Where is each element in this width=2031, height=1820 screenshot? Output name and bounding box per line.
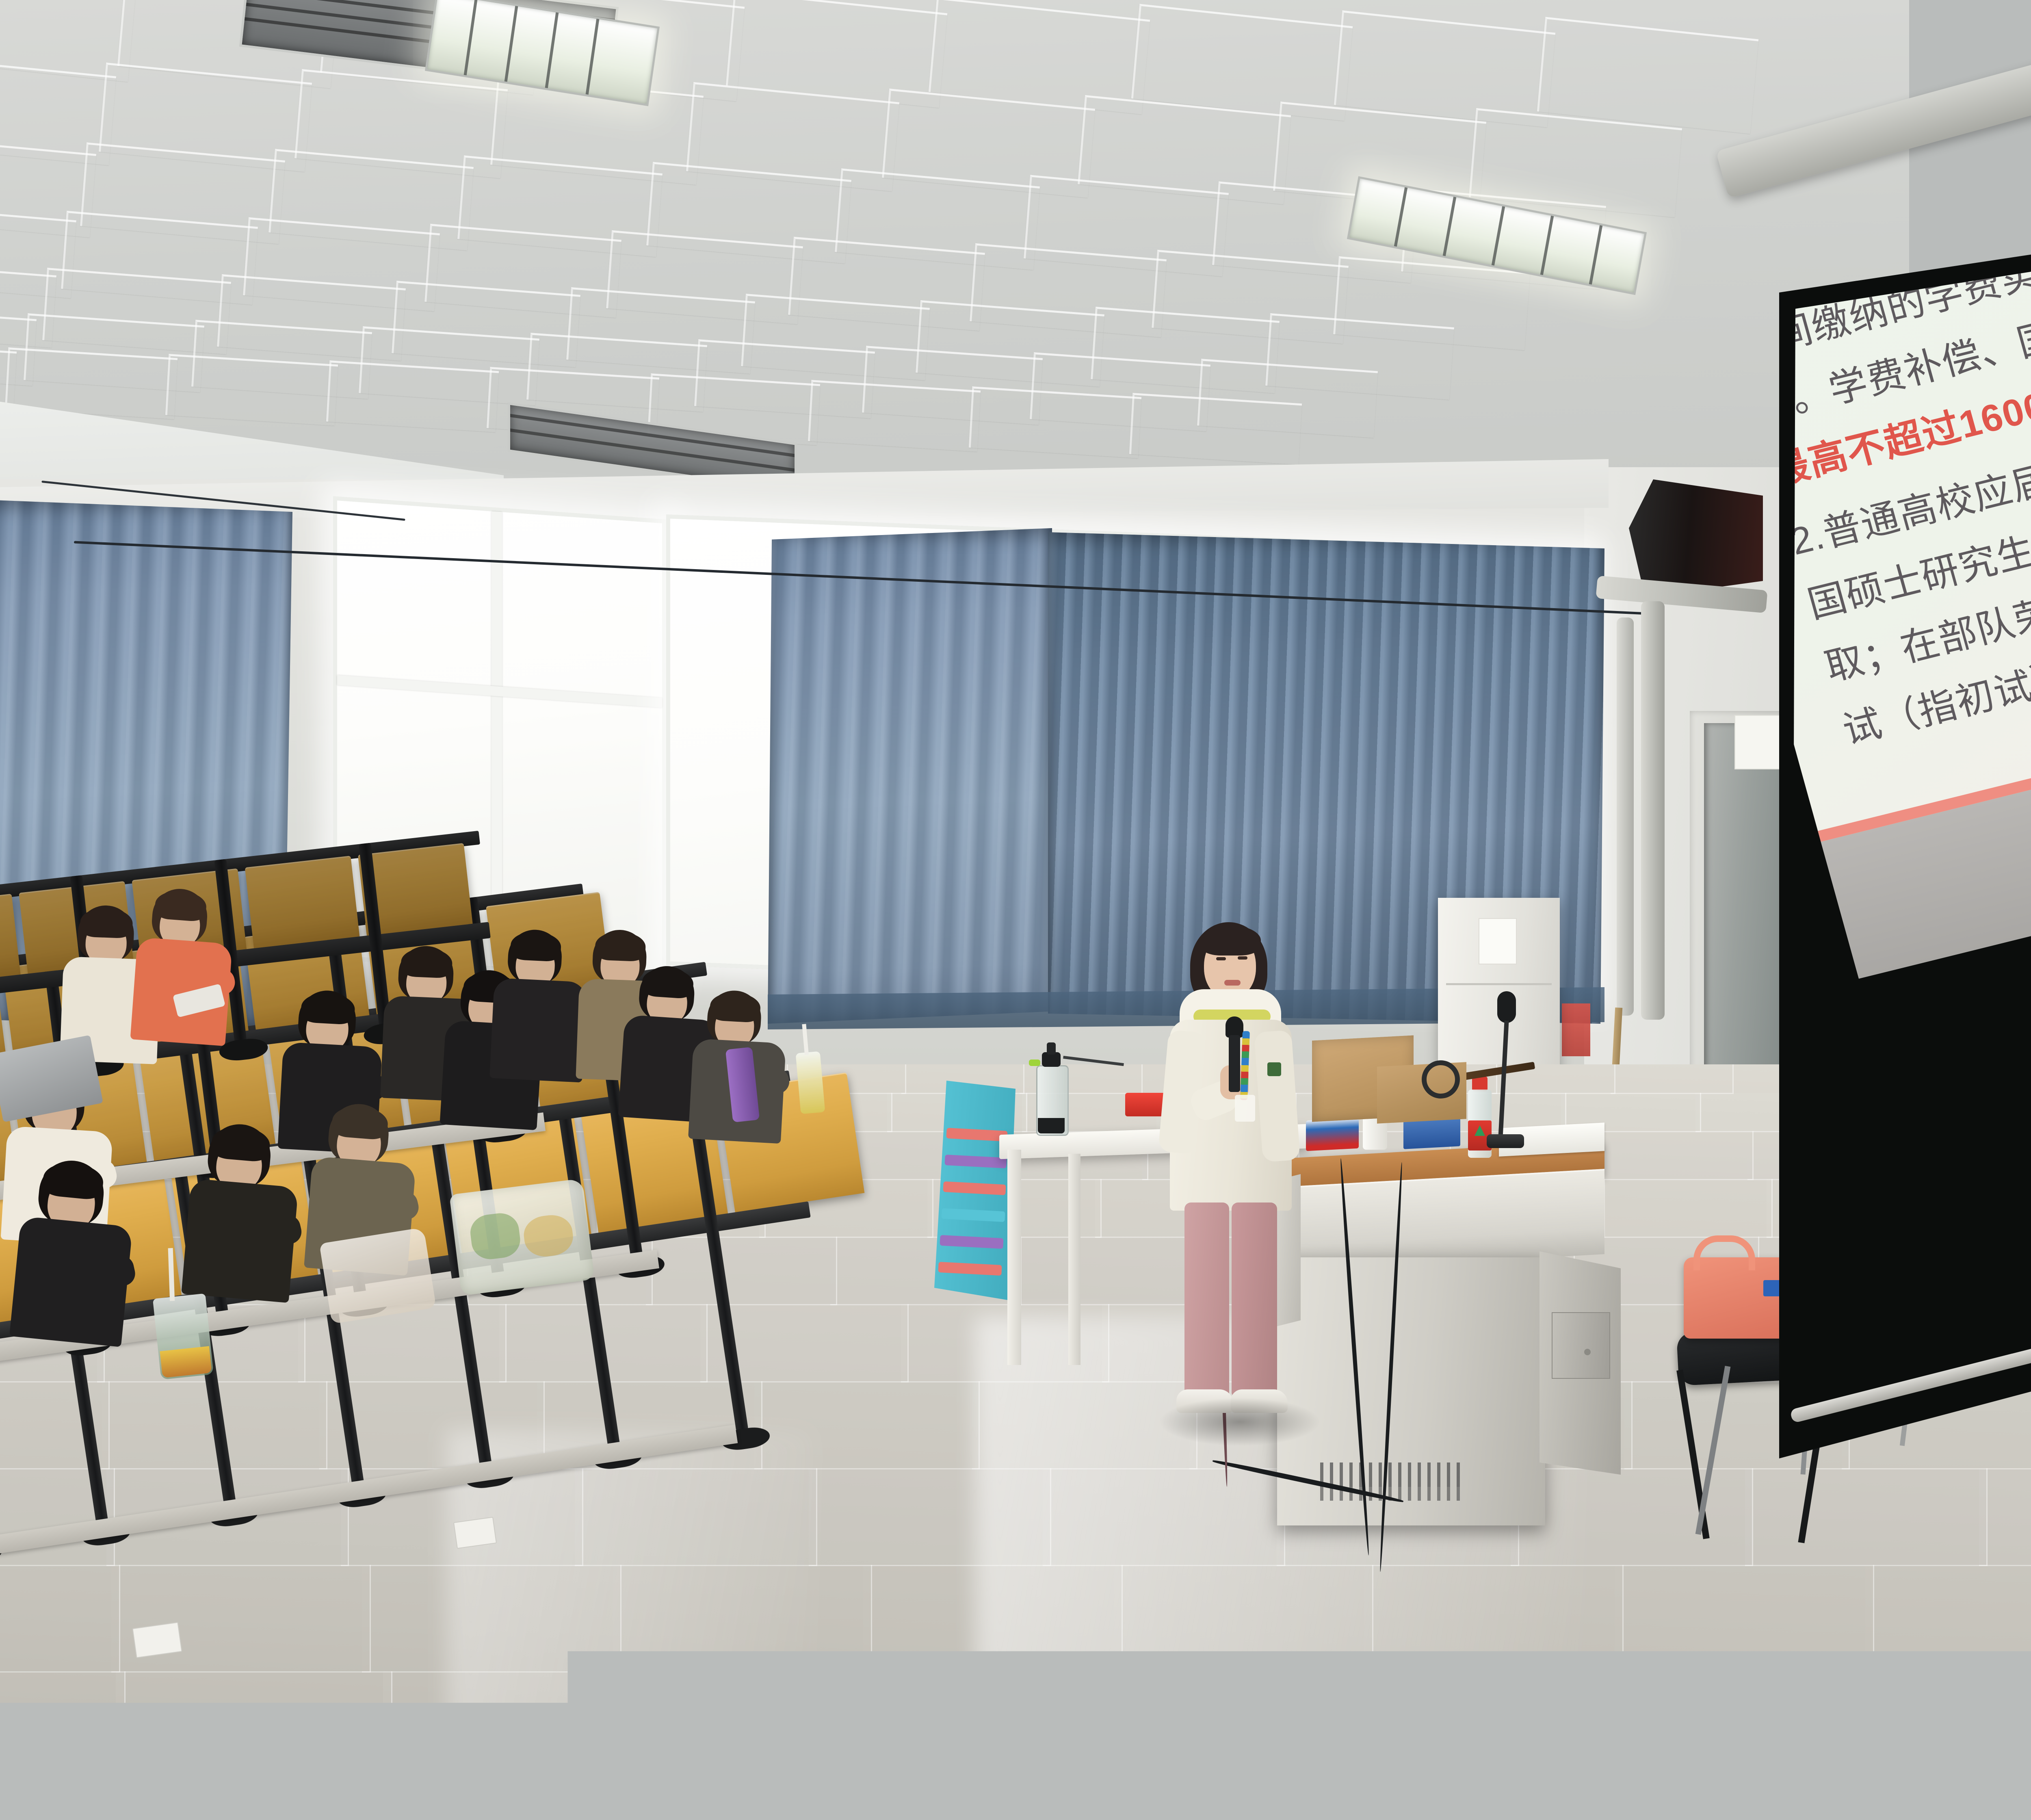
door-notice xyxy=(1734,715,1781,769)
student-hair-front xyxy=(301,992,356,1025)
student-hair-front xyxy=(80,907,133,938)
floor-tile xyxy=(111,1565,371,1673)
teaching-podium[interactable] xyxy=(1271,1150,1609,1536)
student-hair-front xyxy=(641,967,695,999)
curtain-middle xyxy=(768,528,1052,1024)
presenter-eye-left xyxy=(1216,957,1226,960)
student-hair-front xyxy=(210,1124,271,1162)
pressure-spray-bottle xyxy=(1034,1040,1069,1133)
presenter-mouth xyxy=(1224,980,1241,986)
jacket-logo xyxy=(1267,1062,1281,1076)
floor-tile xyxy=(121,1787,414,1820)
presenter-fringe xyxy=(1200,925,1261,955)
ceiling-tile xyxy=(968,386,1141,458)
student-hair-front xyxy=(401,947,453,979)
floor-tile xyxy=(1255,1787,1549,1820)
ceiling-tile xyxy=(326,360,498,432)
red-wall-marker xyxy=(1562,1003,1590,1056)
podium-gooseneck-microphone xyxy=(1462,991,1531,1154)
side-table-leg xyxy=(1068,1154,1080,1365)
takeout-plastic-bag xyxy=(449,1179,595,1296)
floor-tile xyxy=(0,1787,130,1820)
floor-power-socket[interactable] xyxy=(132,1622,182,1658)
wall-speaker xyxy=(1629,479,1763,597)
presenter-trousers xyxy=(1232,1202,1277,1397)
presenter-eye-right xyxy=(1238,956,1247,960)
valve-handle xyxy=(1422,1060,1460,1098)
cabinet-panel-line xyxy=(1446,983,1552,985)
student-hair-front xyxy=(595,931,646,962)
floor-tile xyxy=(116,1671,392,1789)
presenter-shadow xyxy=(1158,1397,1321,1446)
student-hair-front xyxy=(710,992,761,1023)
floor-power-socket[interactable] xyxy=(453,1517,497,1549)
ceiling-tile xyxy=(165,354,338,426)
wall-pipe-vertical xyxy=(1641,601,1665,1020)
desk-front-panel xyxy=(245,856,360,948)
side-table-leg xyxy=(1007,1150,1021,1365)
student xyxy=(129,886,249,1047)
takeout-plastic-bag xyxy=(319,1227,436,1324)
wall-pipe-vertical-2 xyxy=(1617,617,1634,1016)
desk-front-panel xyxy=(0,894,21,986)
projection-screen: 入伍优惠政策 国家政策 1.国家对应征入伍服义务兵役的高校学生，在入伍时对其在校… xyxy=(1779,175,2031,1621)
floor-tile xyxy=(1719,1671,1995,1789)
floor-tile xyxy=(1986,1671,2031,1789)
tissue-box xyxy=(1306,1118,1359,1151)
floor-tile xyxy=(972,1787,1265,1820)
lanyard-badge xyxy=(1235,1095,1255,1122)
cabinet-sticker xyxy=(1479,918,1517,964)
ceiling-tile xyxy=(1537,17,1758,134)
classroom-photo: 入伍优惠政策 国家政策 1.国家对应征入伍服义务兵役的高校学生，在入伍时对其在校… xyxy=(0,0,2031,1820)
floor-tile xyxy=(1611,1064,1734,1094)
student-hair-front xyxy=(331,1104,389,1140)
slide-paragraph-1: 1.国家对应征入伍服义务兵役的高校学生，在入伍时对其在校期间缴纳的学费实行一次性… xyxy=(1779,175,2031,504)
ceiling-tile xyxy=(808,380,981,452)
student xyxy=(8,1156,154,1349)
slide-heading: 国家政策 xyxy=(1779,175,2031,211)
iced-drink-cup xyxy=(153,1293,214,1380)
presenter-speaking xyxy=(1154,922,1301,1434)
slide-dashed-line xyxy=(1779,175,2031,221)
ceiling-tile xyxy=(1129,393,1302,465)
floor-tile xyxy=(0,1671,126,1789)
student-hair-front xyxy=(154,889,208,922)
floor-tile xyxy=(1823,1787,2031,1820)
floor-tile xyxy=(1596,1131,1754,1180)
student-hair-front xyxy=(510,931,561,962)
floor-tile xyxy=(1539,1787,1833,1820)
presenter-trousers xyxy=(1184,1202,1229,1397)
floor-tile xyxy=(0,1565,120,1673)
